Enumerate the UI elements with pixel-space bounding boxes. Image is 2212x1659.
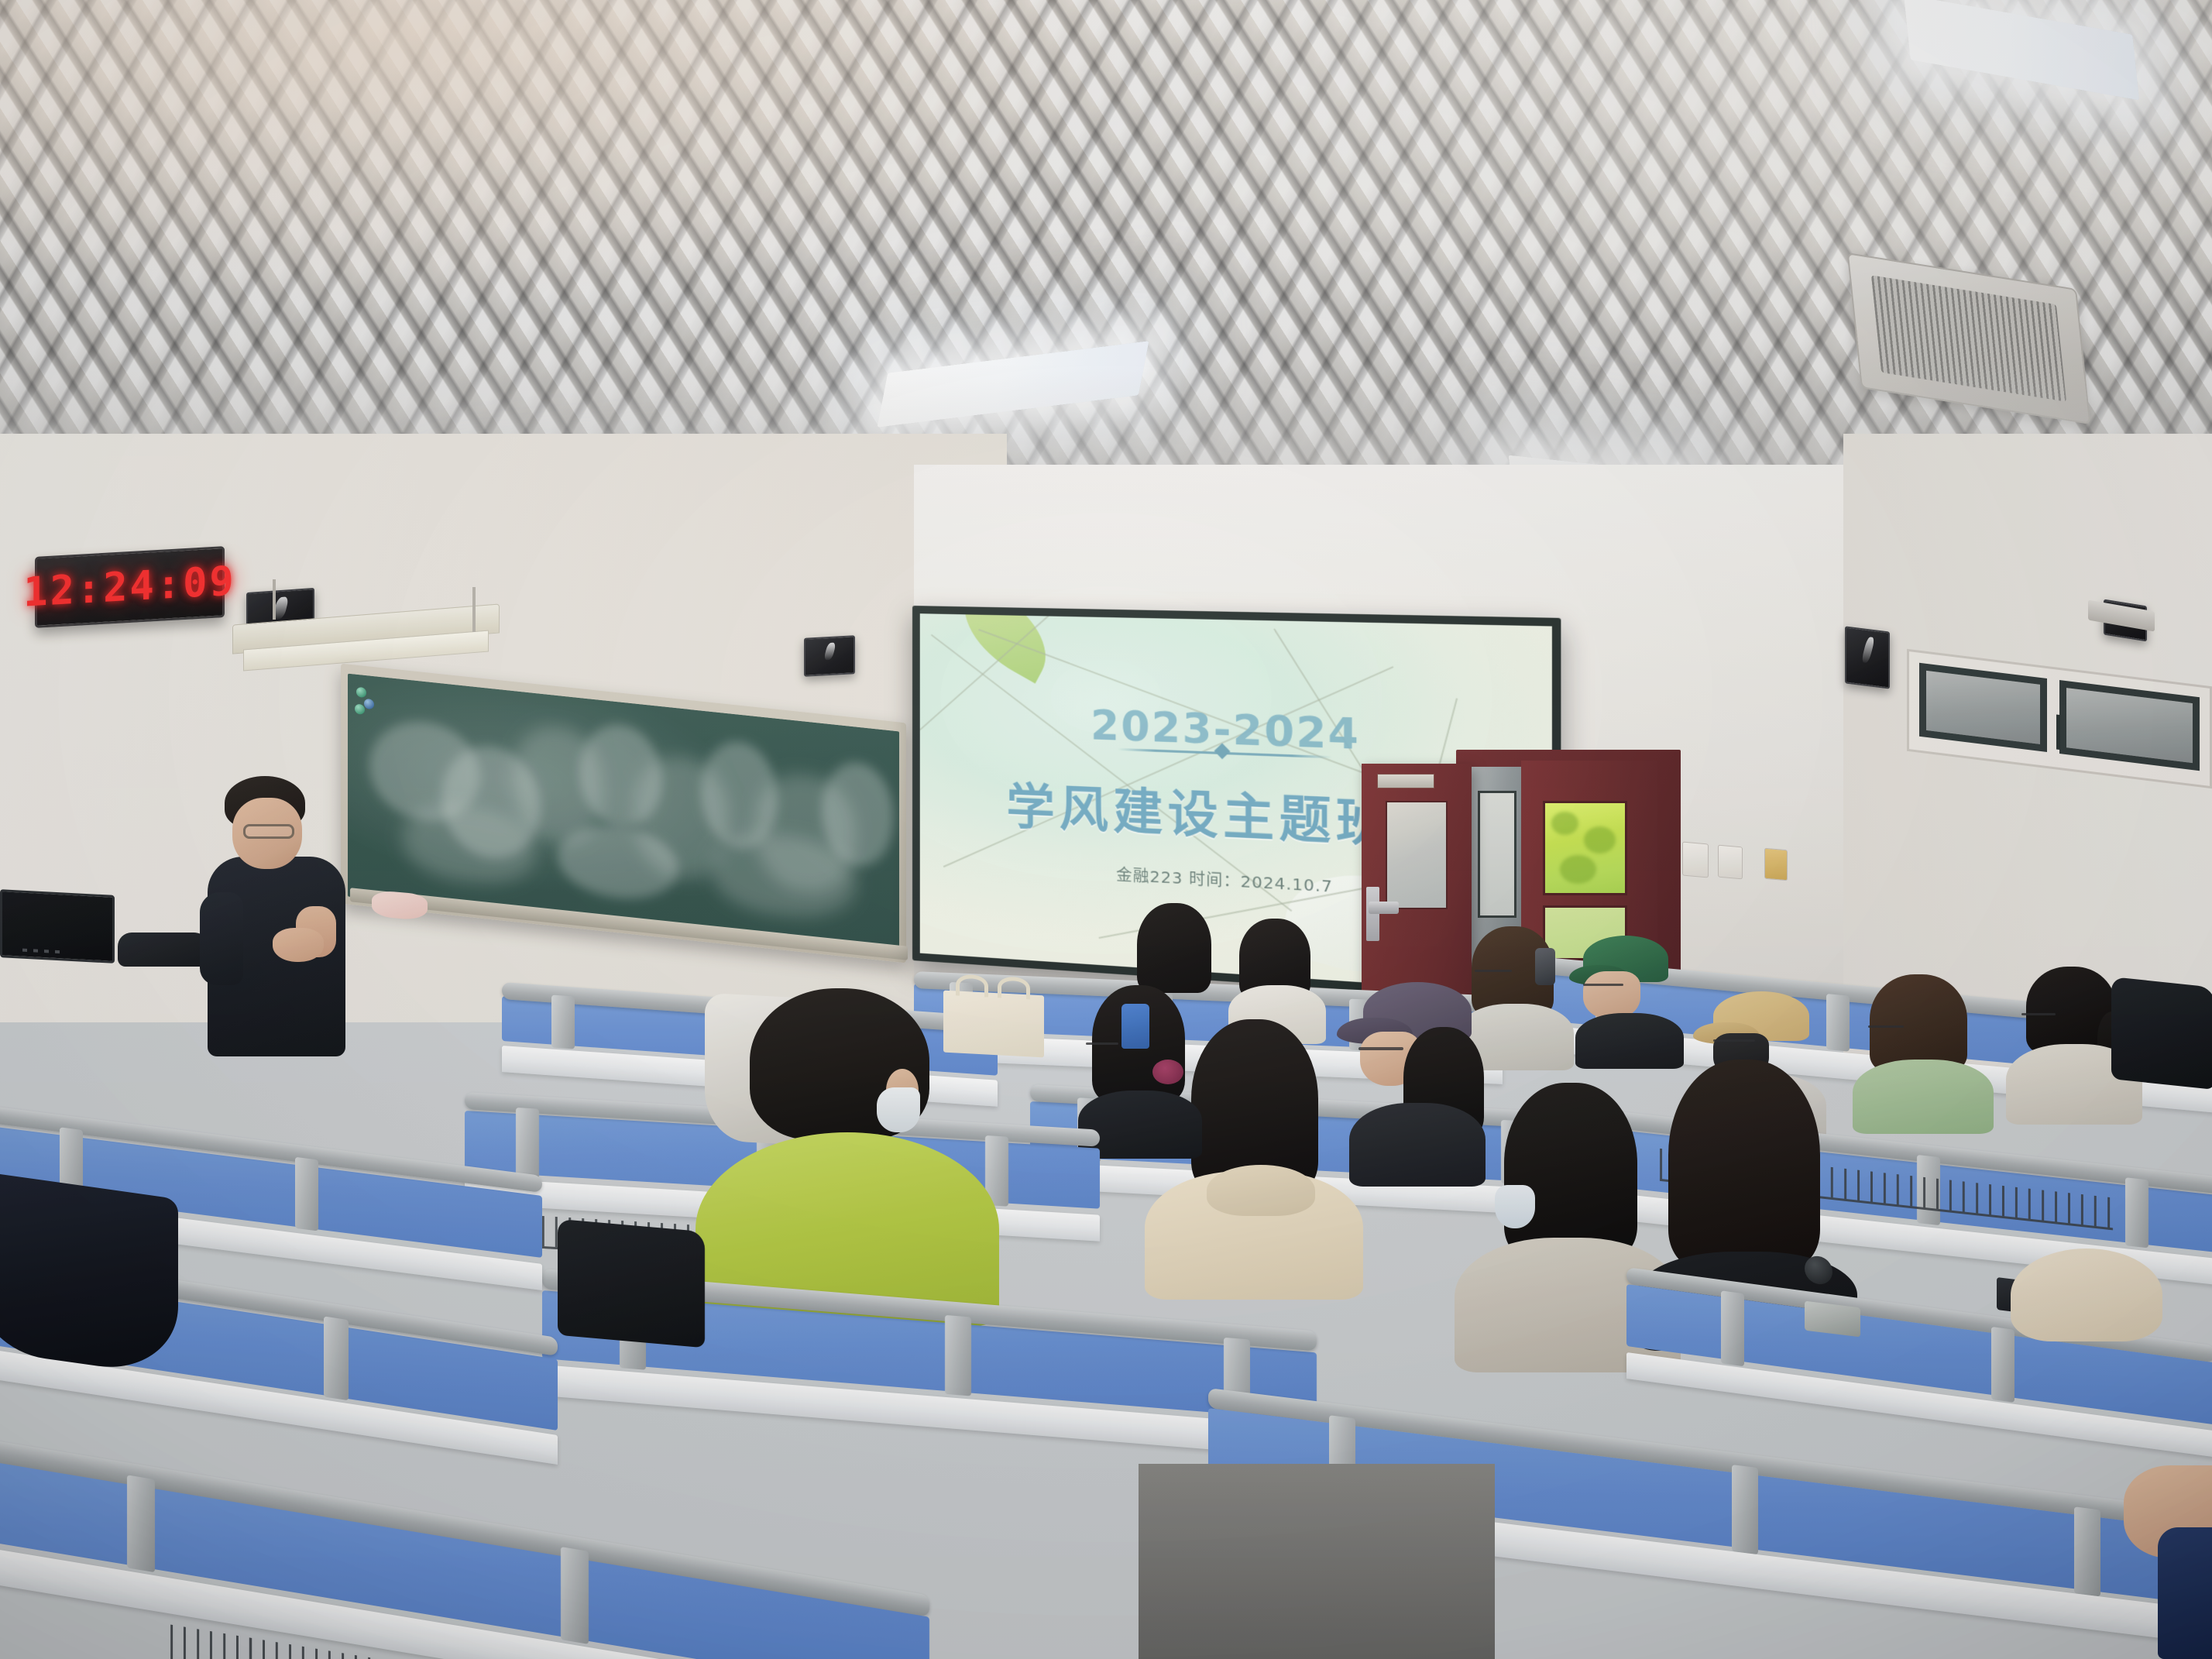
lecturer-arm — [200, 892, 243, 985]
hair-scrunchie — [1152, 1060, 1183, 1084]
speaker-sheen — [1860, 637, 1874, 663]
glasses-icon — [1358, 1047, 1403, 1050]
hair-clip-icon — [1535, 948, 1555, 985]
student-hair — [1870, 974, 1967, 1072]
light-hanger — [273, 579, 276, 620]
magnet-icon — [364, 699, 374, 709]
hood — [1207, 1165, 1315, 1216]
lecturer-hands — [273, 928, 324, 962]
door-glass-upper — [1543, 801, 1627, 895]
glasses-icon — [1583, 984, 1623, 986]
glasses-icon — [1713, 1039, 1755, 1042]
student-sleeve — [2158, 1527, 2212, 1659]
leaf-graphic — [947, 613, 1064, 684]
student — [1862, 974, 1980, 1126]
speaker-sheen — [823, 642, 836, 660]
floor-aisle — [1139, 1464, 1495, 1659]
glasses-icon — [2021, 1013, 2056, 1015]
backpack — [558, 1219, 705, 1348]
window-pane — [1919, 663, 2047, 752]
seat-post — [2125, 1177, 2148, 1248]
magnet-icon — [355, 704, 365, 715]
face-mask — [1495, 1185, 1535, 1228]
face-mask-strap — [877, 1087, 920, 1132]
student-torso — [1349, 1103, 1486, 1187]
student-hair — [1668, 1060, 1820, 1267]
seat-post — [561, 1547, 589, 1644]
seat-post — [551, 994, 575, 1049]
door-sign-plate — [1377, 774, 1434, 788]
light-hanger — [472, 587, 476, 632]
seat-post — [516, 1108, 539, 1179]
student-face — [1583, 971, 1640, 1019]
podium-bag — [118, 933, 211, 967]
seat-post — [295, 1157, 318, 1231]
door-leaf-open[interactable] — [1362, 764, 1472, 1010]
seat-post — [324, 1316, 349, 1400]
light-switch-plate[interactable] — [1718, 845, 1743, 880]
glasses-icon — [243, 824, 294, 839]
glasses-icon — [1868, 1025, 1904, 1028]
seat-post — [127, 1475, 155, 1572]
water-bottle — [1121, 1004, 1149, 1049]
light-switch-plate[interactable] — [1682, 842, 1709, 878]
student — [1349, 982, 1482, 1176]
seat-post — [2074, 1506, 2100, 1596]
student — [1580, 936, 1678, 1060]
student — [2011, 1249, 2166, 1411]
lecturer — [203, 776, 350, 1055]
backpack — [2111, 977, 2212, 1090]
glasses-icon — [1475, 970, 1512, 972]
wall-speaker — [804, 635, 855, 676]
student-torso — [1853, 1060, 1994, 1134]
wall-clock: 12:24:09 — [35, 546, 225, 628]
draped-jacket — [0, 1171, 178, 1378]
teaching-podium — [0, 892, 155, 993]
socket-plate[interactable] — [1764, 848, 1788, 881]
seat-post — [1732, 1465, 1758, 1554]
door-handle[interactable] — [1369, 902, 1400, 914]
student — [2124, 1434, 2212, 1659]
door-lock-plate — [1366, 887, 1379, 941]
door-glass — [1386, 801, 1448, 909]
monitor-indicator-lights — [22, 949, 60, 954]
magnet-icon — [356, 687, 366, 698]
beige-hood — [2011, 1249, 2162, 1341]
student — [1233, 919, 1318, 1035]
classroom-photo: 12:24:09 — [0, 0, 2212, 1659]
seat-post — [945, 1315, 971, 1396]
student-foreground — [682, 988, 1007, 1314]
wall-speaker — [1845, 626, 1890, 689]
student-hair — [1504, 1083, 1637, 1258]
seat-post — [1826, 994, 1850, 1052]
window-sash-handle[interactable] — [2056, 714, 2060, 749]
corridor-window — [1478, 791, 1516, 917]
seat-post — [1721, 1290, 1744, 1366]
clock-time: 12:24:09 — [23, 558, 235, 616]
podium-monitor[interactable] — [0, 889, 115, 963]
glasses-icon — [1086, 1042, 1118, 1045]
